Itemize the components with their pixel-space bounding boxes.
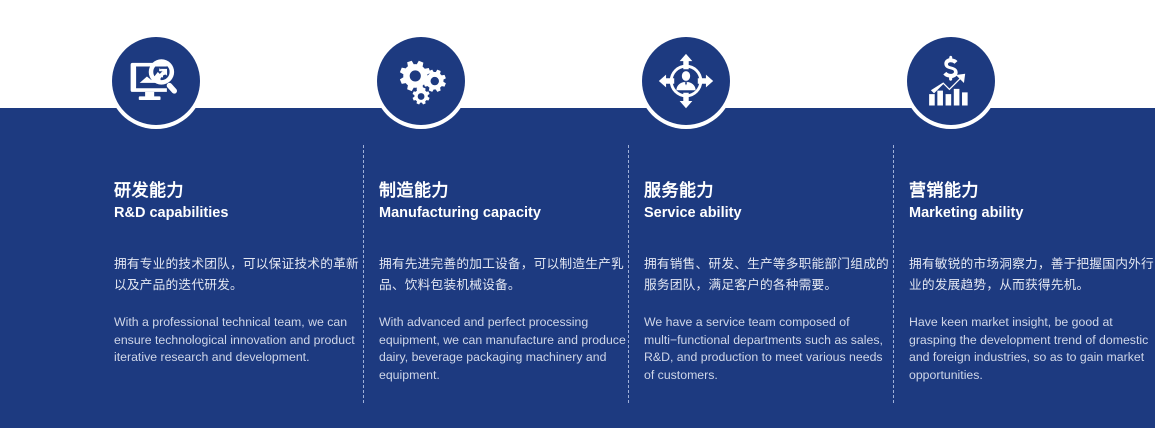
capability-title-cn: 研发能力 [114,180,362,202]
capability-column-manufacturing: 制造能力 Manufacturing capacity 拥有先进完善的加工设备，… [377,0,642,428]
capability-body-en: With a professional technical team, we c… [114,314,362,367]
capability-title-en: Marketing ability [909,204,1155,223]
capability-title-en: R&D capabilities [114,204,362,223]
capability-text-service: 服务能力 Service ability 拥有销售、研发、生产等多职能部门组成的… [644,180,892,384]
capability-title-cn: 服务能力 [644,180,892,202]
capability-text-rd: 研发能力 R&D capabilities 拥有专业的技术团队，可以保证技术的革… [114,180,362,367]
capability-columns: 研发能力 R&D capabilities 拥有专业的技术团队，可以保证技术的革… [0,0,1155,428]
capability-text-manufacturing: 制造能力 Manufacturing capacity 拥有先进完善的加工设备，… [379,180,627,384]
capability-body-en: With advanced and perfect processing equ… [379,314,627,384]
capability-text-marketing: 营销能力 Marketing ability 拥有敏锐的市场洞察力，善于把握国内… [909,180,1155,384]
capability-title-en: Manufacturing capacity [379,204,627,223]
dollar-growth-chart-icon [907,37,995,125]
capability-body-en: Have keen market insight, be good at gra… [909,314,1155,384]
capability-title-en: Service ability [644,204,892,223]
infographic-stage: 研发能力 R&D capabilities 拥有专业的技术团队，可以保证技术的革… [0,0,1155,428]
capability-body-cn: 拥有敏锐的市场洞察力，善于把握国内外行业的发展趋势，从而获得先机。 [909,254,1155,296]
person-four-arrows-icon [642,37,730,125]
capability-column-marketing: 营销能力 Marketing ability 拥有敏锐的市场洞察力，善于把握国内… [907,0,1155,428]
capability-body-cn: 拥有专业的技术团队，可以保证技术的革新以及产品的迭代研发。 [114,254,362,296]
capability-column-service: 服务能力 Service ability 拥有销售、研发、生产等多职能部门组成的… [642,0,907,428]
capability-body-en: We have a service team composed of multi… [644,314,892,384]
gears-icon [377,37,465,125]
capability-title-cn: 营销能力 [909,180,1155,202]
capability-title-cn: 制造能力 [379,180,627,202]
capability-column-rd: 研发能力 R&D capabilities 拥有专业的技术团队，可以保证技术的革… [112,0,377,428]
capability-body-cn: 拥有销售、研发、生产等多职能部门组成的服务团队，满足客户的各种需要。 [644,254,892,296]
monitor-chart-magnifier-icon [112,37,200,125]
capability-body-cn: 拥有先进完善的加工设备，可以制造生产乳品、饮料包装机械设备。 [379,254,627,296]
